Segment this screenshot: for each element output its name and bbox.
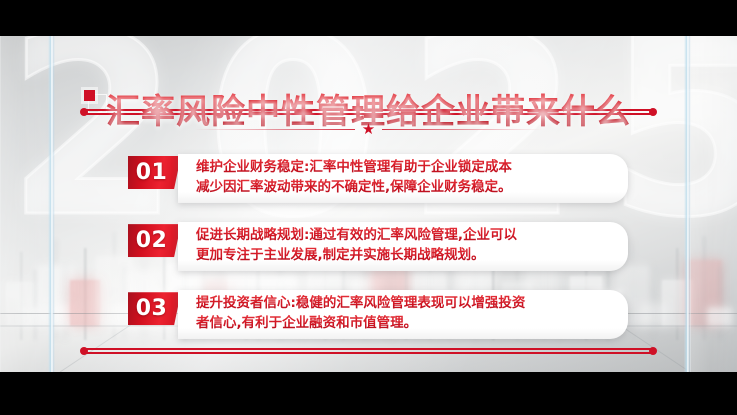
star-icon: ★ bbox=[362, 122, 375, 137]
item-text-line-2: 更加专注于主业发展,制定并实施长期战略规划。 bbox=[196, 246, 612, 266]
item-text-line-2: 减少因汇率波动带来的不确定性,保障企业财务稳定。 bbox=[196, 178, 612, 198]
candlestick bbox=[38, 256, 72, 326]
candlestick bbox=[662, 264, 692, 326]
item-number-badge: 03 bbox=[128, 292, 181, 325]
candlestick bbox=[96, 248, 132, 326]
video-slide: 2025 汇率风险中性管理给企业带来什么 ★ bbox=[0, 0, 737, 415]
item-text-bubble: 促进长期战略规划:通过有效的汇率风险管理,企业可以 更加专注于主业发展,制定并实… bbox=[178, 222, 628, 271]
candlestick bbox=[54, 280, 76, 326]
item-number: 02 bbox=[136, 228, 174, 253]
list-item: 01 维护企业财务稳定:汇率中性管理有助于企业锁定成本 减少因汇率波动带来的不确… bbox=[128, 154, 628, 203]
item-text-bubble: 维护企业财务稳定:汇率中性管理有助于企业锁定成本 减少因汇率波动带来的不确定性,… bbox=[178, 154, 628, 203]
item-number: 01 bbox=[136, 160, 174, 185]
candlestick bbox=[70, 264, 100, 326]
list-item: 02 促进长期战略规划:通过有效的汇率风险管理,企业可以 更加专注于主业发展,制… bbox=[128, 222, 628, 271]
title-divider: ★ bbox=[0, 122, 737, 137]
candlestick bbox=[22, 286, 48, 326]
list-item: 03 提升投资者信心:稳健的汇率风险管理表现可以增强投资 者信心,有利于企业融资… bbox=[128, 290, 628, 339]
rule-dot-right bbox=[649, 347, 657, 355]
item-text-line-1: 促进长期战略规划:通过有效的汇率风险管理,企业可以 bbox=[196, 226, 612, 246]
item-number-badge: 02 bbox=[128, 224, 181, 257]
item-text-line-1: 维护企业财务稳定:汇率中性管理有助于企业锁定成本 bbox=[196, 158, 612, 178]
item-number: 03 bbox=[136, 296, 174, 321]
rule-dot-left bbox=[80, 347, 88, 355]
item-number-badge: 01 bbox=[128, 156, 181, 189]
item-text-line-1: 提升投资者信心:稳健的汇率风险管理表现可以增强投资 bbox=[196, 294, 612, 314]
item-text-bubble: 提升投资者信心:稳健的汇率风险管理表现可以增强投资 者信心,有利于企业融资和市值… bbox=[178, 290, 628, 339]
bottom-red-rule bbox=[80, 347, 657, 356]
slide-canvas: 2025 汇率风险中性管理给企业带来什么 ★ bbox=[0, 36, 737, 372]
candlestick bbox=[640, 280, 666, 326]
divider-segment-right bbox=[382, 129, 542, 130]
bullet-list: 01 维护企业财务稳定:汇率中性管理有助于企业锁定成本 减少因汇率波动带来的不确… bbox=[128, 154, 628, 358]
divider-segment-left bbox=[195, 129, 355, 130]
candlestick bbox=[686, 252, 722, 326]
candlestick bbox=[6, 268, 36, 326]
candlestick bbox=[708, 282, 732, 326]
item-text-line-2: 者信心,有利于企业融资和市值管理。 bbox=[196, 314, 612, 334]
